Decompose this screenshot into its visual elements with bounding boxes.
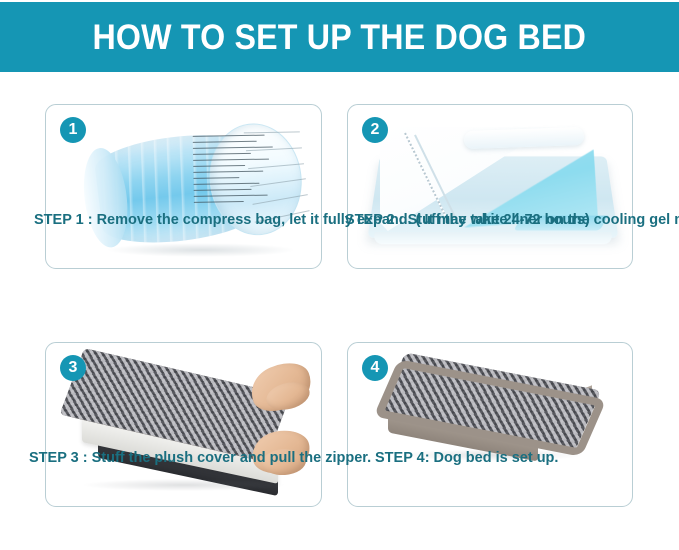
foam-bottom-rim <box>373 232 613 244</box>
step-image-2 <box>348 105 632 268</box>
step-caption-1-line1: STEP 1 : Remove the compress bag, <box>34 212 285 228</box>
liner-flap <box>464 127 585 149</box>
step-card-4: 4 <box>347 342 633 507</box>
step-caption-4: STEP 4: Dog bed is set up. <box>375 447 558 469</box>
step-caption-2-line1: STEP 2 : Stuff the white liner on the co… <box>345 212 645 228</box>
header-banner: HOW TO SET UP THE DOG BED <box>0 2 679 72</box>
step-card-2: 2 <box>347 104 633 269</box>
step-badge-3: 3 <box>60 355 86 381</box>
step-image-3 <box>46 343 321 506</box>
step-badge-2: 2 <box>362 117 388 143</box>
step-badge-1: 1 <box>60 117 86 143</box>
step-image-1 <box>46 105 321 268</box>
page-title: HOW TO SET UP THE DOG BED <box>93 20 587 55</box>
step-card-1: 1 <box>45 104 322 269</box>
step-image-4 <box>348 343 632 506</box>
step-caption-3-line1: STEP 3 : Stuff the plush cover and pull … <box>29 447 371 469</box>
step-badge-4: 4 <box>362 355 388 381</box>
step-caption-2-line2: gel memory foam. <box>649 212 679 228</box>
step-caption-4-line1: STEP 4: Dog bed is set up. <box>375 447 558 469</box>
step-card-3: 3 <box>45 342 322 507</box>
step-caption-2: STEP 2 : Stuff the white liner on the co… <box>345 209 679 231</box>
stuffing-cover-illustration <box>54 363 314 493</box>
compression-bag-illustration <box>91 116 294 258</box>
step-caption-3: STEP 3 : Stuff the plush cover and pull … <box>29 447 371 469</box>
bed-shadow <box>84 479 284 491</box>
liner-over-foam-illustration <box>368 123 618 253</box>
steps-grid: 1 <box>0 72 679 550</box>
